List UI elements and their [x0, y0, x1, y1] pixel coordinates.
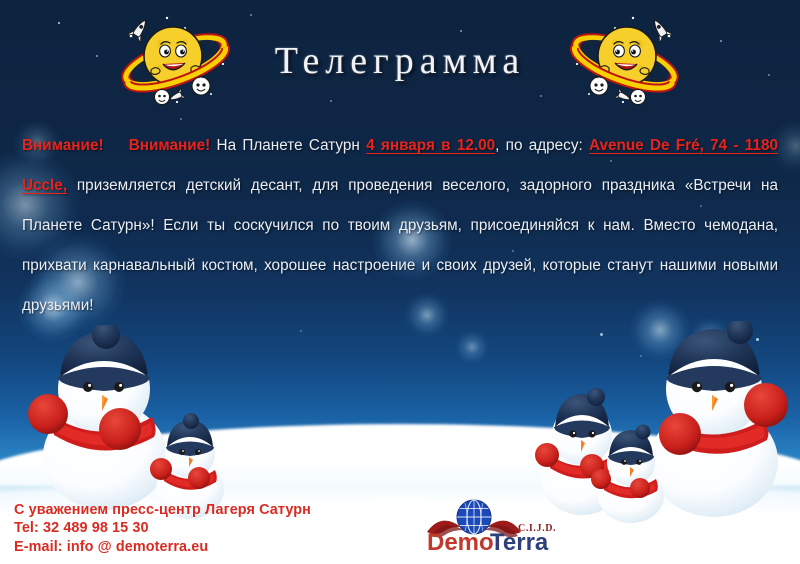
page-title: Телеграмма	[235, 39, 565, 83]
moon-character-icon	[192, 76, 210, 95]
star	[300, 330, 302, 332]
snowman-hat-icon	[666, 321, 762, 391]
footer-contact: С уважением пресс-центр Лагеря Сатурн Te…	[14, 501, 311, 557]
snowman-small-right	[585, 418, 680, 528]
moon-character-icon	[590, 76, 608, 95]
footer-line-tel: Tel: 32 489 98 15 30	[14, 519, 311, 538]
scarf-pompom	[744, 383, 788, 427]
scarf-pompom	[591, 469, 611, 489]
alert-word-1: Внимание!	[22, 137, 104, 154]
saturn-mascot-left	[115, 6, 235, 116]
scarf-pompom	[28, 394, 68, 434]
telegram-message: Внимание! Внимание! На Планете Сатурн 4 …	[22, 126, 778, 326]
message-segment-2: , по адресу:	[495, 137, 589, 154]
snowman-hat-icon	[608, 425, 654, 466]
hat-pompom	[587, 388, 605, 406]
saturn-mascot-right	[565, 6, 685, 116]
logo-word-terra: Terra	[490, 529, 549, 554]
demoterra-logo: C.I.J.D. Demo Terra	[425, 496, 575, 554]
logo-word-demo: Demo	[427, 529, 494, 554]
event-datetime: 4 января в 12.00	[366, 137, 495, 154]
scarf-pompom	[188, 467, 210, 489]
telegram-poster: Телеграмма	[0, 0, 800, 564]
rocket-icon	[648, 16, 673, 43]
hat-pompom	[183, 413, 199, 429]
scarf-pompom	[150, 458, 172, 480]
snowman-eye	[569, 430, 576, 437]
message-segment-3: приземляется детский десант, для проведе…	[22, 177, 778, 314]
hat-pompom	[636, 425, 651, 440]
rocket-icon	[127, 16, 152, 43]
footer-line-email: E-mail: info @ demoterra.eu	[14, 538, 311, 557]
moon-character-icon	[155, 90, 170, 105]
alert-word-2: Внимание!	[129, 137, 211, 154]
snowman-hat-icon	[58, 325, 150, 391]
snowman-eye	[692, 382, 702, 392]
snowman-eye	[83, 382, 93, 392]
snowman-eye	[636, 459, 642, 465]
footer-line-signature: С уважением пресс-центр Лагеря Сатурн	[14, 501, 311, 520]
scarf-pompom	[630, 478, 650, 498]
star	[600, 333, 603, 336]
snowman-hat-icon	[166, 413, 214, 456]
message-segment-1: На Планете Сатурн	[210, 137, 366, 154]
snowman-eye	[621, 459, 627, 465]
scarf-pompom	[535, 443, 559, 467]
snowman-eye	[725, 382, 735, 392]
snowman-eye	[114, 382, 124, 392]
snowman-eye	[179, 449, 185, 455]
poster-header: Телеграмма	[0, 0, 800, 122]
snowman-eye	[195, 449, 201, 455]
star-glow	[455, 330, 489, 364]
moon-character-icon	[631, 90, 646, 105]
